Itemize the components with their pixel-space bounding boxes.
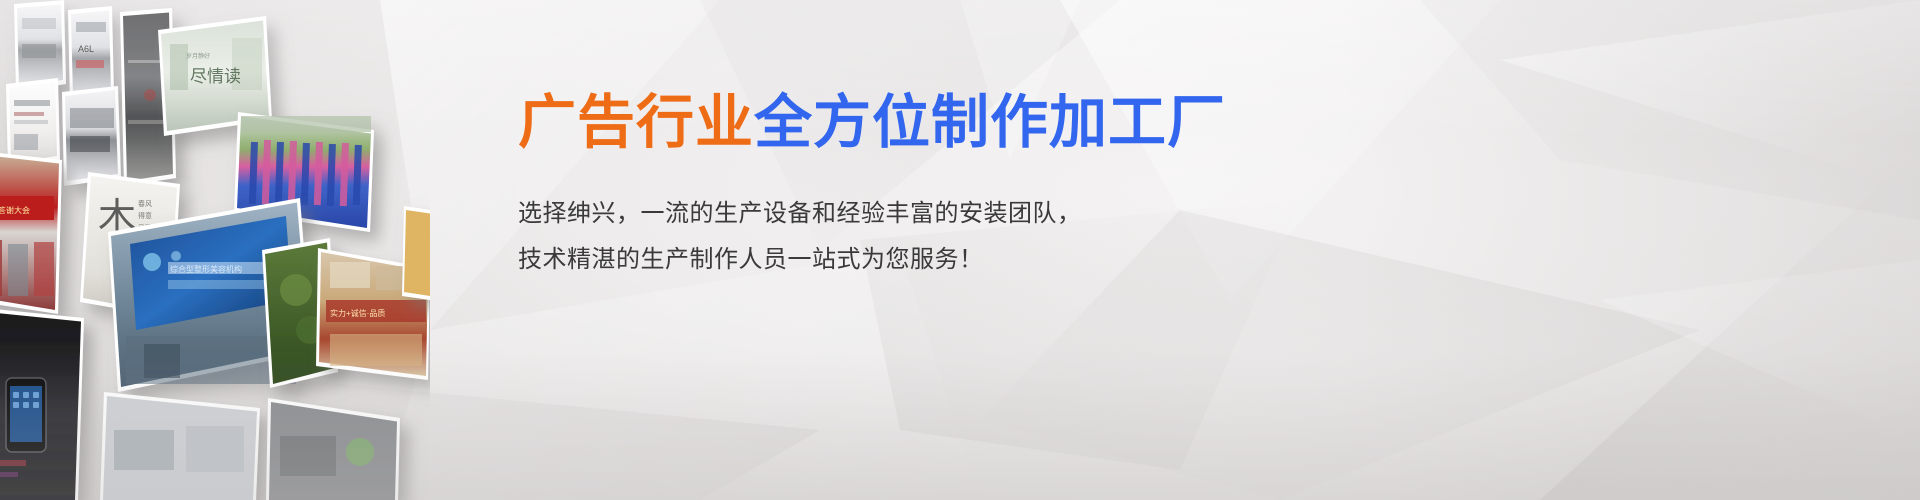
svg-text:尽情读: 尽情读 <box>190 67 241 86</box>
banner-copy: 广告行业全方位制作加工厂 选择绅兴，一流的生产设备和经验丰富的安装团队， 技术精… <box>518 92 1298 284</box>
card-right-edge <box>402 206 430 300</box>
svg-text:实力+诚信·品质: 实力+诚信·品质 <box>330 308 385 318</box>
svg-text:得意: 得意 <box>138 211 152 220</box>
headline-part-orange: 广告行业 <box>518 90 754 155</box>
photo-collage: A6L <box>0 0 430 500</box>
subtitle-block: 选择绅兴，一流的生产设备和经验丰富的安装团队， 技术精湛的生产制作人员一站式为您… <box>518 191 1298 285</box>
promo-banner: A6L <box>0 0 1920 500</box>
svg-text:A6L: A6L <box>78 44 94 54</box>
svg-text:春风: 春风 <box>138 199 152 208</box>
headline-part-blue: 全方位制作加工厂 <box>754 90 1226 155</box>
svg-text:岁月静好: 岁月静好 <box>186 52 210 60</box>
subtitle-line-1: 选择绅兴，一流的生产设备和经验丰富的安装团队， <box>518 191 1298 238</box>
card-phone-display: hone <box>0 306 84 500</box>
svg-text:综合型整形美容机构: 综合型整形美容机构 <box>170 264 242 274</box>
card-bottom-right <box>266 398 400 500</box>
card-car-box-a <box>6 78 60 168</box>
headline: 广告行业全方位制作加工厂 <box>518 92 1298 155</box>
card-red-shelf: 年终答谢大会 <box>0 150 62 314</box>
card-bottom-center <box>100 392 260 500</box>
card-car-box-b <box>62 86 121 186</box>
card-car-brochure-a <box>14 0 66 92</box>
svg-text:年终答谢大会: 年终答谢大会 <box>0 205 30 215</box>
subtitle-line-2: 技术精湛的生产制作人员一站式为您服务！ <box>518 237 1298 284</box>
collage-cards: A6L <box>0 0 430 500</box>
